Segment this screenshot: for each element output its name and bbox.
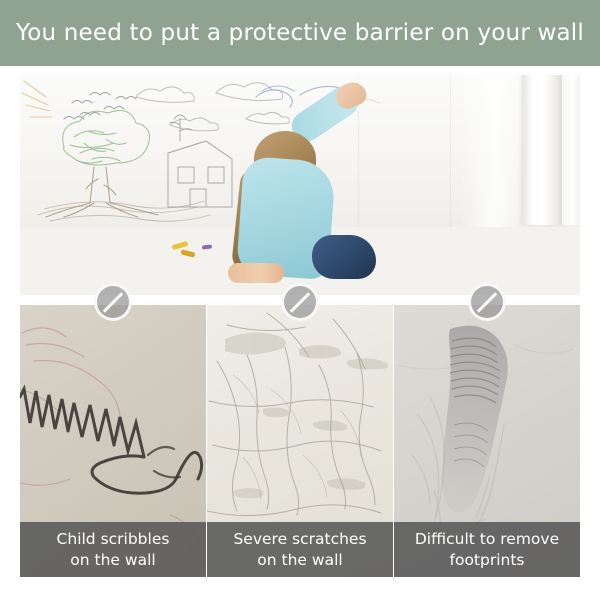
caption-line-1: Severe scratches: [233, 529, 366, 550]
crayon-icon: [181, 249, 196, 257]
prohibition-icon-3: [468, 283, 506, 321]
caption-line-2: on the wall: [257, 550, 342, 571]
hero-photo: [20, 75, 580, 295]
caption-line-2: footprints: [450, 550, 525, 571]
panel-caption-2: Severe scratches on the wall: [207, 522, 393, 577]
child-figure: [216, 77, 376, 295]
child-jeans: [312, 235, 376, 279]
crayon-icon: [202, 244, 212, 249]
caption-line-2: on the wall: [70, 550, 155, 571]
header-banner: You need to put a protective barrier on …: [0, 0, 600, 66]
page-title: You need to put a protective barrier on …: [16, 20, 584, 46]
child-leg: [228, 263, 284, 283]
problem-panel-child-scribbles: Child scribbles on the wall: [20, 305, 206, 577]
caption-line-1: Difficult to remove: [415, 529, 559, 550]
problem-panel-severe-scratches: Severe scratches on the wall: [207, 305, 393, 577]
caption-line-1: Child scribbles: [57, 529, 170, 550]
problem-panel-difficult-footprints: Difficult to remove footprints: [394, 305, 580, 577]
prohibition-icon-2: [281, 283, 319, 321]
prohibition-icon-1: [94, 283, 132, 321]
panel-caption-3: Difficult to remove footprints: [394, 522, 580, 577]
crayon-icon: [172, 241, 189, 250]
panel-caption-1: Child scribbles on the wall: [20, 522, 206, 577]
